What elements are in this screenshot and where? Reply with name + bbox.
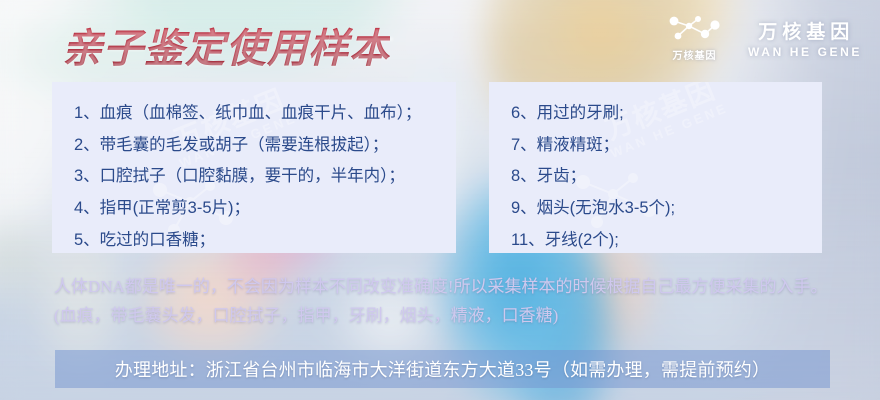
sample-list-panel-right: 万核基因 WAN HE GENE 6、用过的牙刷; 7、精液精斑； 8、牙齿； … (489, 82, 822, 253)
brand-logo-mark: 万核基因 (665, 14, 723, 62)
address-bar: 办理地址：浙江省台州市临海市大洋街道东方大道33号（如需办理，需提前预约） (55, 350, 830, 388)
promo-banner: 亲子鉴定使用样本 万核 (0, 0, 880, 400)
sample-list-left: 1、血痕（血棉签、纸巾血、血痕干片、血布）； 2、带毛囊的毛发或胡子（需要连根拔… (52, 82, 456, 253)
molecule-dna-icon (665, 14, 723, 44)
list-item: 6、用过的牙刷; (511, 98, 822, 130)
brand-logo: 万核基因 万核基因 WAN HE GENE (665, 14, 862, 62)
sample-list-right: 6、用过的牙刷; 7、精液精斑； 8、牙齿； 9、烟头(无泡水3-5个); 11… (489, 82, 822, 253)
list-item: 8、牙齿； (511, 161, 822, 193)
list-item: 9、烟头(无泡水3-5个); (511, 193, 822, 225)
brand-name-cn: 万核基因 (753, 17, 854, 44)
list-item: 11、牙线(2个); (511, 225, 822, 253)
brand-logo-mark-label: 万核基因 (672, 47, 716, 62)
brand-wordmark: 万核基因 WAN HE GENE (745, 17, 862, 59)
list-item: 2、带毛囊的毛发或胡子（需要连根拔起）； (74, 130, 456, 162)
note-paragraph: 人体DNA都是唯一的，不会因为样本不同改变准确度!所以采集样本的时候根据自己最方… (54, 272, 842, 330)
page-title: 亲子鉴定使用样本 (62, 16, 390, 74)
list-item: 3、口腔拭子（口腔黏膜，要干的，半年内）； (74, 161, 456, 193)
list-item: 7、精液精斑； (511, 130, 822, 162)
list-item: 5、吃过的口香糖； (74, 225, 456, 253)
address-text: 办理地址：浙江省台州市临海市大洋街道东方大道33号（如需办理，需提前预约） (115, 356, 770, 382)
list-item: 4、指甲(正常剪3-5片)； (74, 193, 456, 225)
sample-list-panel-left: 万核基因 WAN HE GENE 1、血痕（血棉签、纸巾血、血痕干片、血布）； … (52, 82, 456, 253)
list-item: 1、血痕（血棉签、纸巾血、血痕干片、血布）； (74, 98, 456, 130)
brand-name-en: WAN HE GENE (745, 45, 862, 59)
